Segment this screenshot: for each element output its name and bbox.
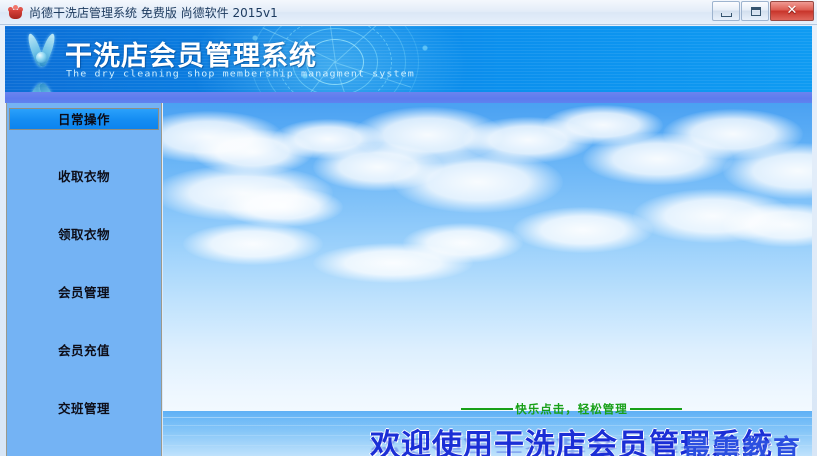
watermark: 最需教育 — [683, 428, 803, 456]
maximize-button[interactable] — [741, 1, 769, 21]
cloud-decoration — [183, 223, 323, 265]
cloud-decoration — [633, 189, 793, 243]
cupcake-icon — [8, 5, 23, 20]
cloud-decoration — [273, 119, 383, 159]
cloud-decoration — [543, 105, 663, 145]
sidebar-item-daily-operations[interactable]: 日常操作 — [9, 108, 159, 130]
sidebar-item-member-management[interactable]: 会员管理 — [9, 282, 159, 304]
cloud-decoration — [463, 117, 593, 163]
tagline-rule-left — [461, 408, 513, 410]
window-title: 尚德干洗店管理系统 免费版 尚德软件 2015v1 — [29, 4, 278, 21]
maximize-icon — [751, 7, 761, 16]
cloud-decoration — [723, 203, 812, 247]
cloud-decoration — [513, 207, 653, 253]
cloud-decoration — [353, 107, 503, 163]
title-bar-left: 尚德干洗店管理系统 免费版 尚德软件 2015v1 — [8, 0, 278, 25]
cloud-decoration — [163, 165, 333, 221]
tagline: 快乐点击，轻松管理 — [339, 401, 804, 417]
application-window: 尚德干洗店管理系统 免费版 尚德软件 2015v1 ✕ — [0, 0, 817, 456]
cloud-decoration — [663, 109, 803, 159]
minimize-icon — [721, 13, 732, 17]
cloud-decoration — [723, 143, 812, 199]
sidebar-item-receive-clothes[interactable]: 收取衣物 — [9, 166, 159, 188]
cloud-decoration — [193, 129, 313, 175]
app-banner: 干洗店会员管理系统 The dry cleaning shop membersh… — [5, 26, 812, 92]
tagline-rule-right — [630, 408, 682, 410]
sidebar-item-member-recharge[interactable]: 会员充值 — [9, 340, 159, 362]
cloud-decoration — [393, 151, 563, 213]
sidebar-navigation: 日常操作 收取衣物 领取衣物 会员管理 会员充值 交班管理 — [6, 103, 162, 456]
cloud-decoration — [313, 243, 473, 283]
cloud-decoration — [223, 187, 343, 227]
scissors-wings-logo-icon — [17, 30, 65, 86]
tagline-text: 快乐点击，轻松管理 — [515, 401, 628, 417]
banner-accent-strip — [5, 92, 812, 103]
banner-title: 干洗店会员管理系统 — [65, 34, 317, 73]
close-icon: ✕ — [771, 2, 813, 20]
cloud-decoration — [163, 111, 283, 163]
minimize-button[interactable] — [712, 1, 740, 21]
cloud-decoration — [583, 133, 733, 185]
window-controls: ✕ — [711, 1, 814, 21]
close-button[interactable]: ✕ — [770, 1, 814, 21]
sidebar-item-shift-management[interactable]: 交班管理 — [9, 398, 159, 420]
cloud-decoration — [313, 143, 443, 191]
cloud-decoration — [403, 223, 523, 263]
title-bar: 尚德干洗店管理系统 免费版 尚德软件 2015v1 ✕ — [0, 0, 817, 25]
main-content-area: 快乐点击，轻松管理 欢迎使用干洗店会员管理系统 欢迎使用干洗店会员管理系统 最需… — [163, 103, 812, 456]
client-area: 干洗店会员管理系统 The dry cleaning shop membersh… — [5, 26, 812, 456]
sidebar-item-pickup-clothes[interactable]: 领取衣物 — [9, 224, 159, 246]
banner-subtitle: The dry cleaning shop membership managme… — [66, 69, 415, 79]
